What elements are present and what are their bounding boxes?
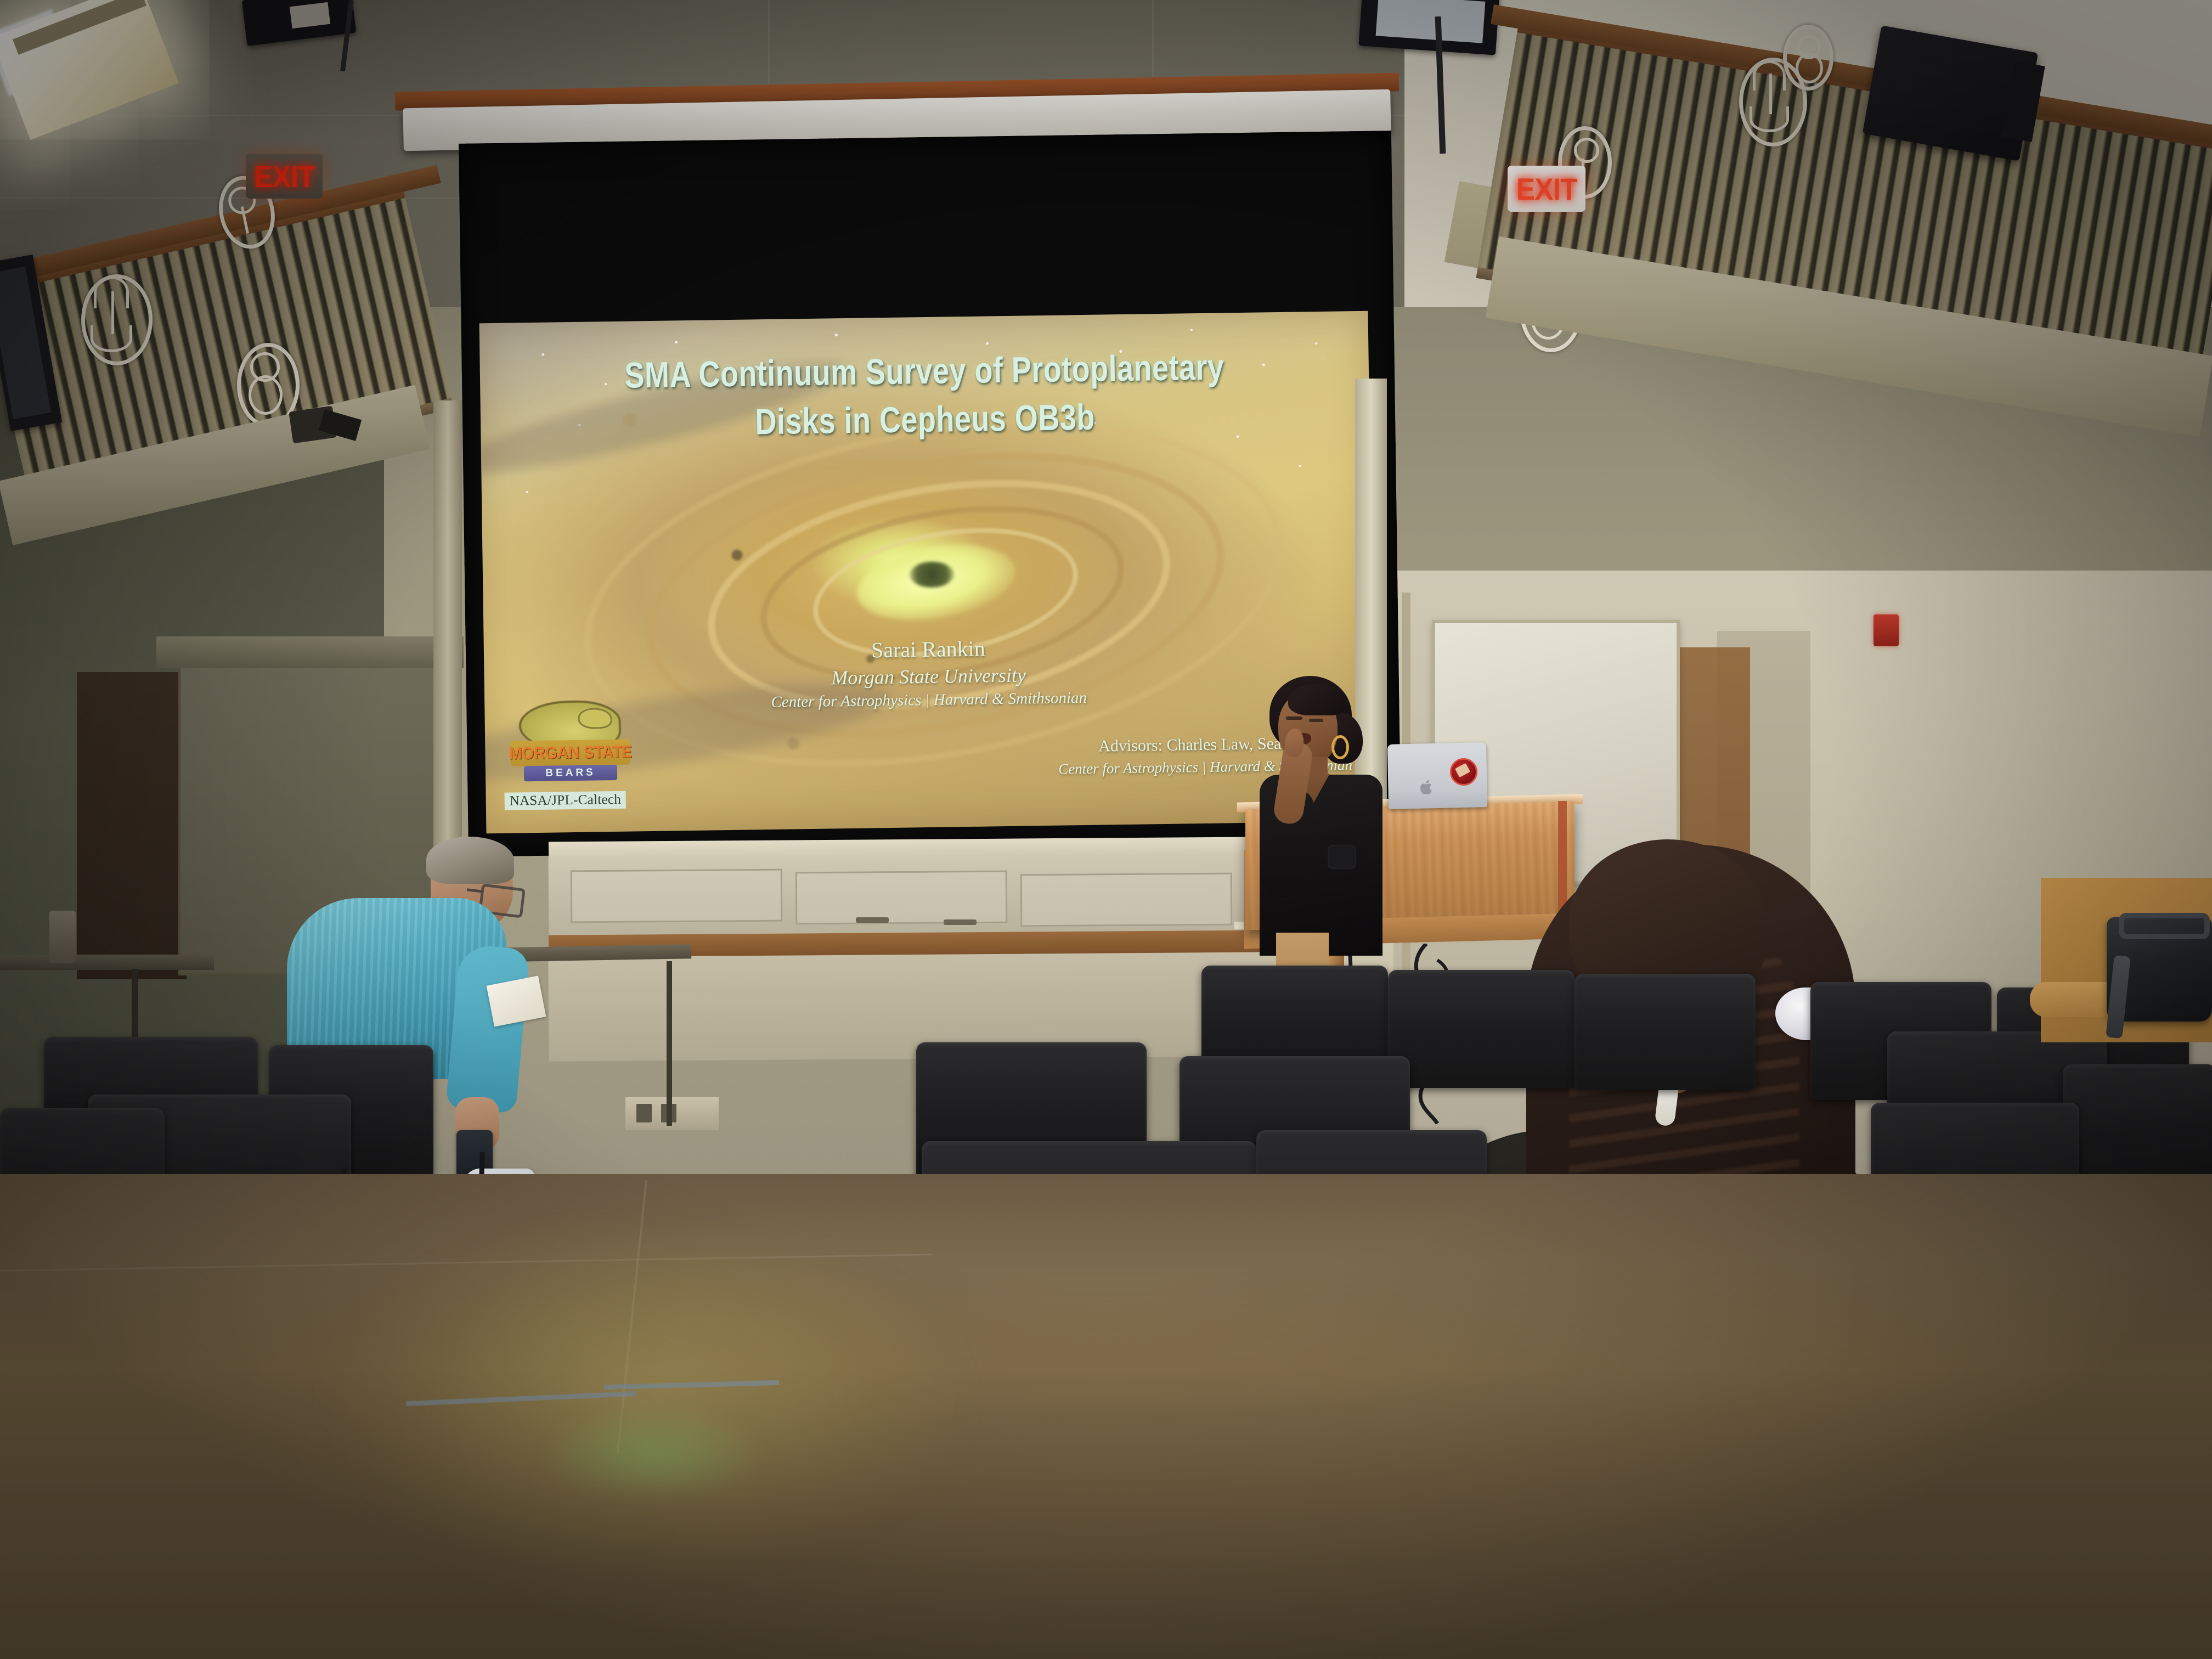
morgan-state-wordmark: MORGAN STATE	[515, 740, 626, 766]
cabinet-panel	[1020, 873, 1233, 927]
presenter-eye	[1286, 716, 1302, 720]
exit-sign-label: EXIT	[1516, 171, 1577, 207]
railing-medallion-icon	[81, 274, 153, 365]
monitor-screen	[1376, 0, 1486, 43]
bear-head-icon	[578, 708, 612, 729]
cabinet-handle	[856, 917, 889, 923]
table-leg	[132, 969, 138, 1046]
doorway-left[interactable]	[77, 672, 187, 979]
cabinet-panel	[571, 869, 783, 923]
morgan-state-bears-logo: MORGAN STATE BEARS	[506, 700, 634, 784]
chair[interactable]	[1575, 974, 1756, 1090]
disk-protoplanet	[731, 549, 742, 560]
exit-sign-label: EXIT	[254, 159, 315, 194]
audience-left-hair	[426, 837, 514, 884]
lecture-hall-photo: EXIT EXIT	[0, 0, 2212, 1659]
chair[interactable]	[1388, 970, 1575, 1088]
fire-alarm-icon	[1874, 614, 1899, 646]
railing-medallion-icon	[1783, 25, 1833, 91]
cabinet-panel	[795, 871, 1008, 925]
presenter-hair-front	[1288, 684, 1345, 715]
slide-image-credit: NASA/JPL-Caltech	[505, 791, 627, 810]
monitor-screen	[290, 2, 330, 29]
side-table-far-left	[0, 955, 214, 970]
stage-riser	[548, 952, 1278, 1061]
exit-sign-right: EXIT	[1508, 166, 1585, 212]
wall-panel-header	[156, 636, 464, 668]
apple-logo-icon	[1420, 779, 1434, 795]
table-leg	[667, 961, 672, 1126]
presenter	[1256, 680, 1399, 966]
screen-side-post	[433, 400, 462, 856]
bears-wordmark: BEARS	[524, 765, 617, 781]
outlet-socket	[636, 1104, 652, 1122]
bag-handle	[2119, 913, 2210, 939]
presentation-slide: SMA Continuum Survey of Protoplanetary D…	[479, 311, 1375, 834]
presenter-eye	[1309, 719, 1323, 722]
presenter-earring	[1331, 735, 1349, 759]
exit-sign-left: EXIT	[246, 154, 323, 199]
thermos-on-table	[49, 911, 76, 963]
audience-left-arm	[445, 944, 530, 1114]
lavalier-microphone	[1328, 845, 1356, 869]
cabinet-handle	[944, 919, 977, 925]
floor-reflection-highlight	[538, 1404, 768, 1503]
